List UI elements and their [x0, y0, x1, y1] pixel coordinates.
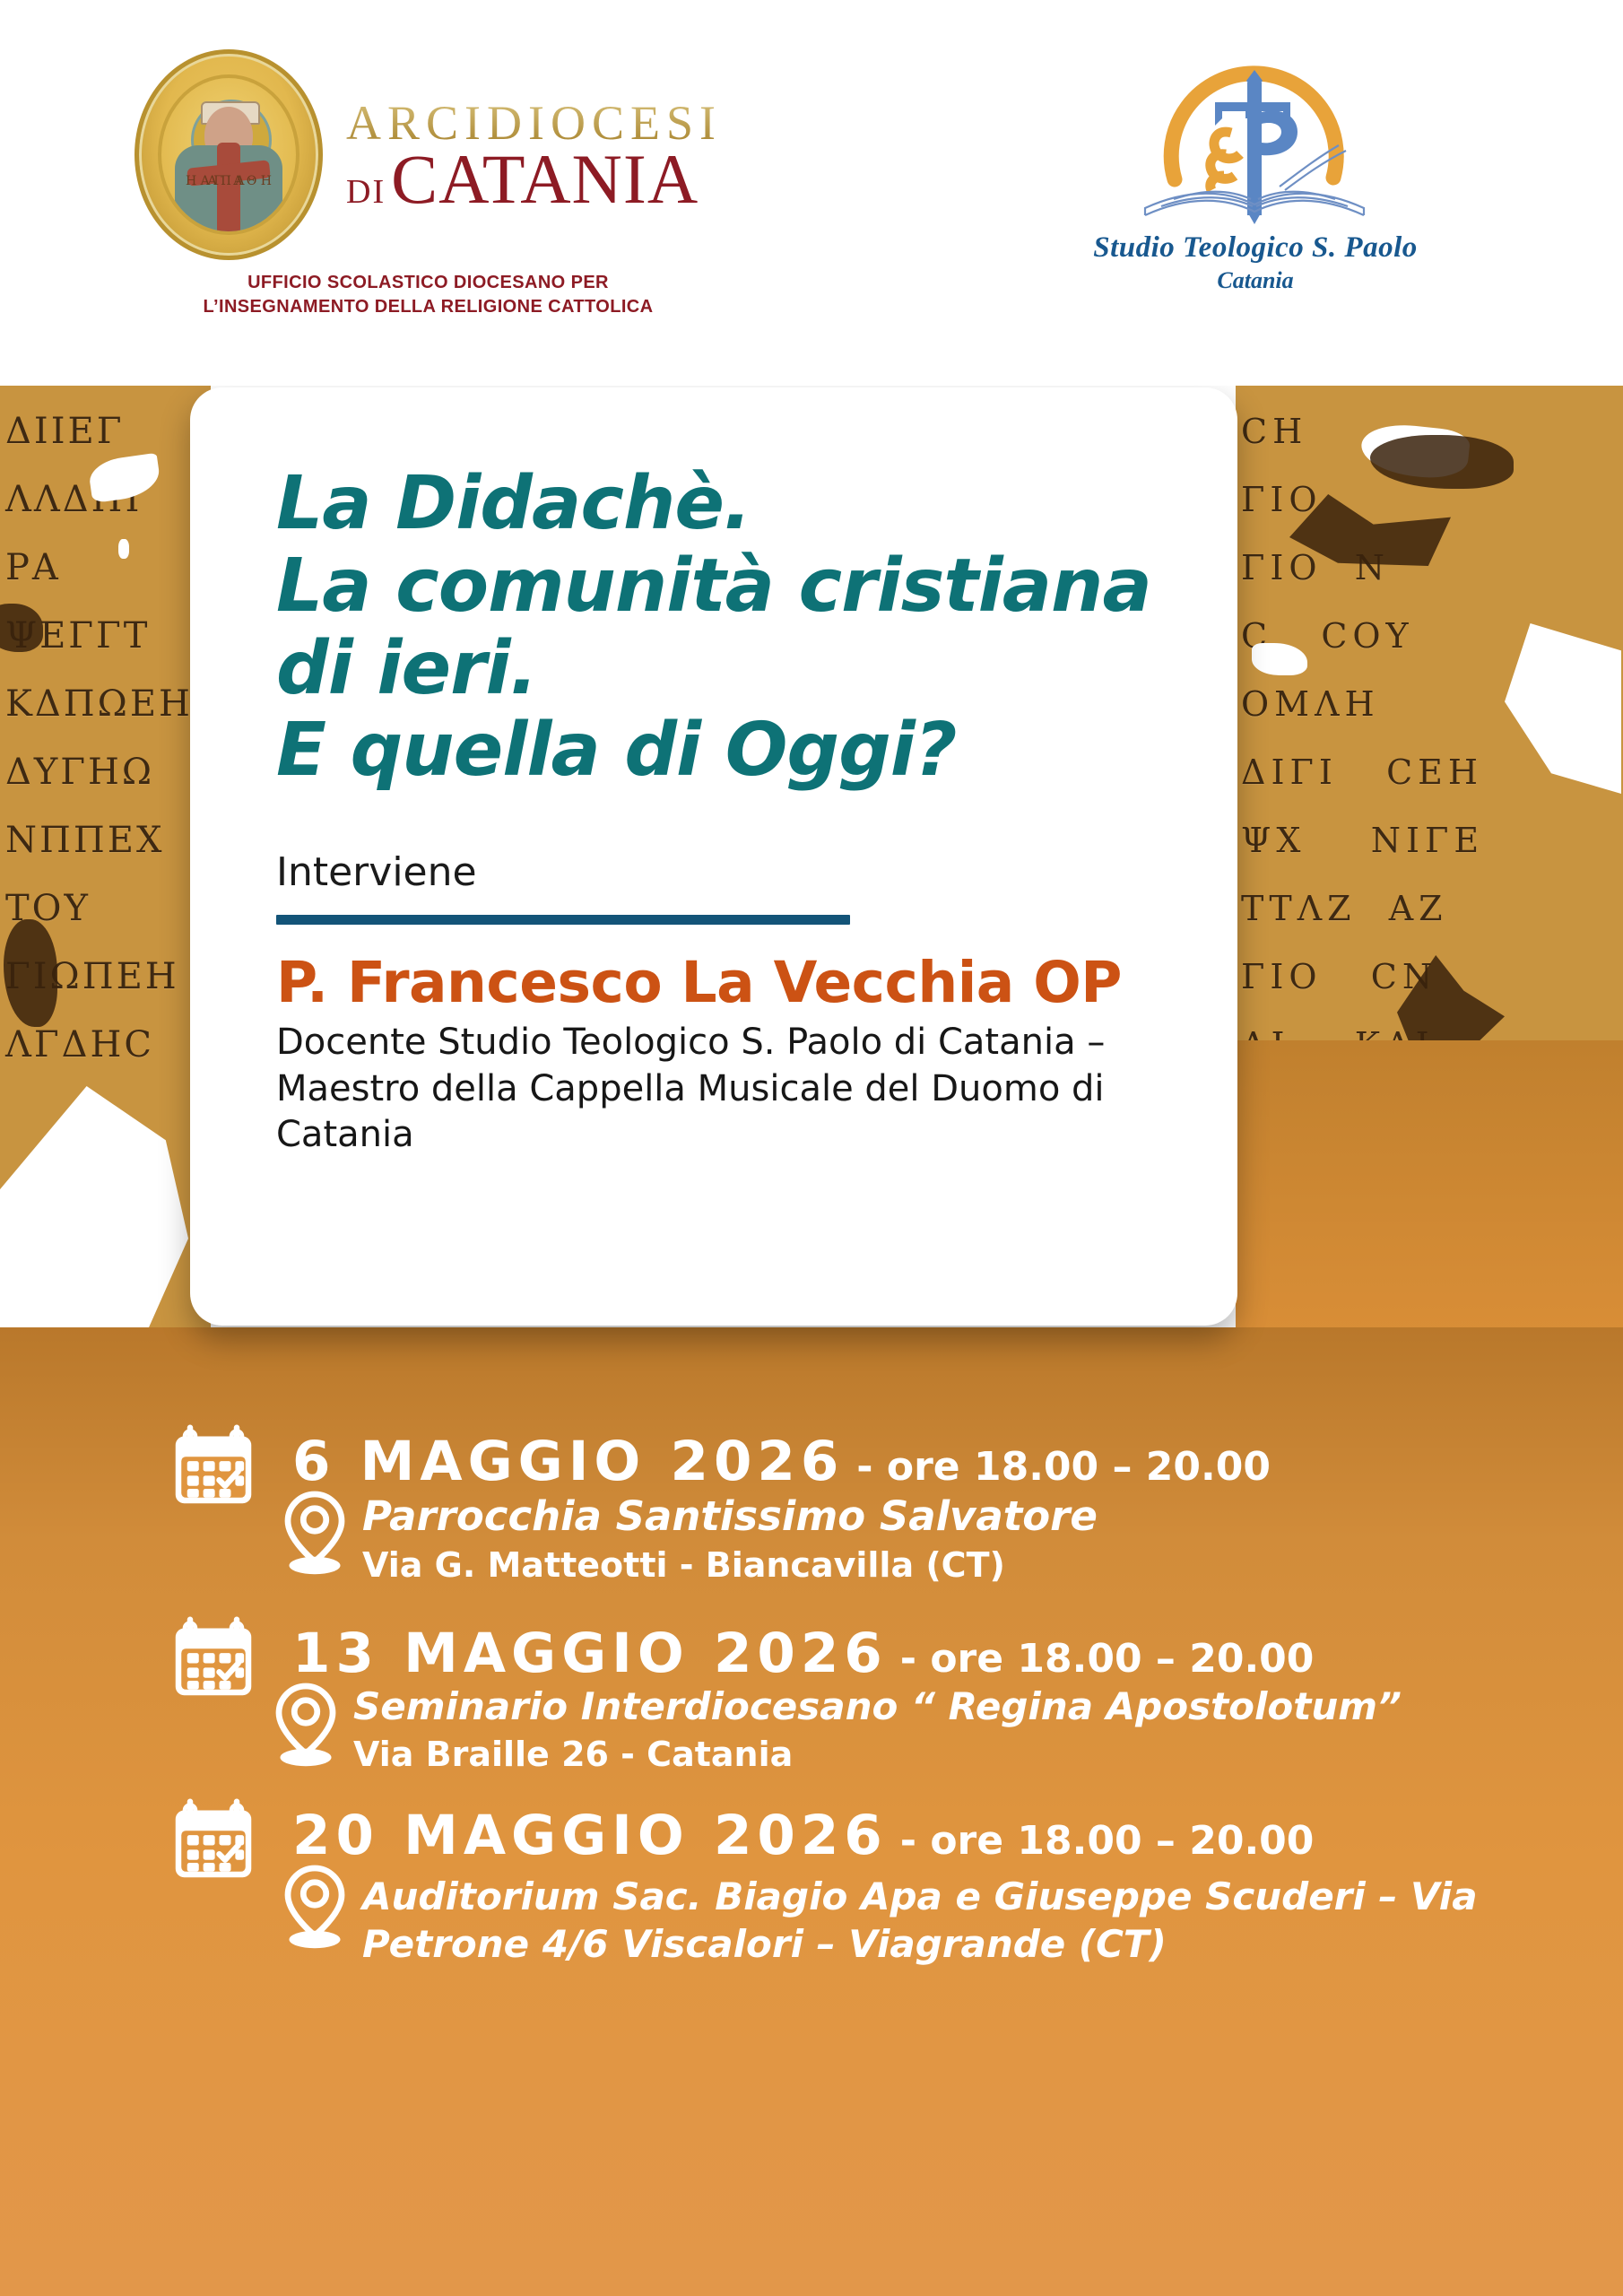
office-subtitle-line-1: UFFICIO SCOLASTICO DIOCESANO PER — [204, 271, 654, 295]
event-date: 6 MAGGIO 2026 — [292, 1433, 844, 1491]
studio-teologico-name: Studio Teologico S. Paolo — [1093, 230, 1417, 265]
title-line-4: E quella di Oggi? — [276, 709, 1175, 792]
event-time: - ore 18.00 – 20.00 — [900, 1818, 1315, 1864]
logo-word-catania: CATANIA — [391, 147, 699, 212]
title-line-2: La comunità cristiana — [276, 545, 1175, 628]
seal-greek-right-text: Α Γ Α Θ Η — [208, 175, 272, 188]
event-date: 20 MAGGIO 2026 — [292, 1807, 888, 1865]
archdiocese-wordmark: ARCIDIOCESI DI CATANIA — [346, 99, 722, 212]
calendar-check-icon — [167, 1419, 260, 1512]
speaker-role: Docente Studio Teologico S. Paolo di Cat… — [276, 1020, 1173, 1158]
archdiocese-logo: ECCLESIAE SIGILLVM CATHANENSIS Η Α Γ Ι Α… — [135, 49, 722, 319]
stp-emblem-icon — [1125, 36, 1385, 229]
divider-rule — [276, 915, 850, 925]
location-pin-icon — [282, 1489, 348, 1575]
archdiocese-seal-icon: ECCLESIAE SIGILLVM CATHANENSIS Η Α Γ Ι Α… — [135, 49, 323, 260]
event-item: 6 MAGGIO 2026 - ore 18.00 – 20.00 Parroc… — [167, 1433, 1601, 1586]
studio-teologico-logo: Studio Teologico S. Paolo Catania — [1067, 36, 1444, 294]
papyrus-hole — [118, 539, 129, 559]
interviene-label: Interviene — [276, 849, 1175, 895]
event-place: Seminario Interdiocesano “ Regina Aposto… — [353, 1684, 1601, 1729]
seal-inner-ring: Η Α Γ Ι Α Α Γ Α Θ Η — [158, 74, 299, 235]
location-pin-icon — [273, 1681, 339, 1767]
office-subtitle-line-2: L’INSEGNAMENTO DELLA RELIGIONE CATTOLICA — [204, 295, 654, 319]
event-time: - ore 18.00 – 20.00 — [900, 1636, 1315, 1682]
poster-root: ΔΙΙΕΓ ΛΛΔΙΠ ΡΑ ΨΕΓΓΤ ΚΔΠΩΕΗ ΔΥΓΗΩ ΝΠΠΕΧ … — [0, 0, 1623, 2296]
orange-right-fill — [1236, 1040, 1623, 1336]
event-time: - ore 18.00 – 20.00 — [856, 1444, 1271, 1490]
header-logo-band: ECCLESIAE SIGILLVM CATHANENSIS Η Α Γ Ι Α… — [0, 0, 1623, 386]
location-pin-icon — [282, 1863, 348, 1949]
logo-word-di: DI — [346, 175, 386, 209]
title-line-1: La Didachè. — [276, 463, 1175, 545]
speaker-name: P. Francesco La Vecchia OP — [276, 953, 1175, 1013]
studio-teologico-city: Catania — [1217, 267, 1293, 294]
saint-stole-icon — [217, 143, 240, 235]
event-item: 20 MAGGIO 2026 - ore 18.00 – 20.00 Audit… — [167, 1807, 1601, 1968]
studio-teologico-mark — [1125, 36, 1385, 229]
title-line-3: di ieri. — [276, 628, 1175, 710]
poster-title: La Didachè. La comunità cristiana di ier… — [276, 463, 1175, 792]
event-address: Via G. Matteotti - Biancavilla (CT) — [362, 1544, 1601, 1586]
calendar-check-icon — [167, 1793, 260, 1886]
office-subtitle: UFFICIO SCOLASTICO DIOCESANO PER L’INSEG… — [204, 271, 654, 319]
event-list: 6 MAGGIO 2026 - ore 18.00 – 20.00 Parroc… — [167, 1433, 1601, 2002]
main-content-card: La Didachè. La comunità cristiana di ier… — [190, 387, 1237, 1326]
event-address: Via Braille 26 - Catania — [353, 1734, 1601, 1775]
event-place: Auditorium Sac. Biagio Apa e Giuseppe Sc… — [362, 1874, 1601, 1968]
event-date: 13 MAGGIO 2026 — [292, 1625, 888, 1683]
papyrus-left-fragment: ΔΙΙΕΓ ΛΛΔΙΠ ΡΑ ΨΕΓΓΤ ΚΔΠΩΕΗ ΔΥΓΗΩ ΝΠΠΕΧ … — [0, 381, 211, 1332]
event-place: Parrocchia Santissimo Salvatore — [362, 1492, 1601, 1541]
event-item: 13 MAGGIO 2026 - ore 18.00 – 20.00 Semin… — [167, 1625, 1601, 1775]
calendar-check-icon — [167, 1611, 260, 1704]
